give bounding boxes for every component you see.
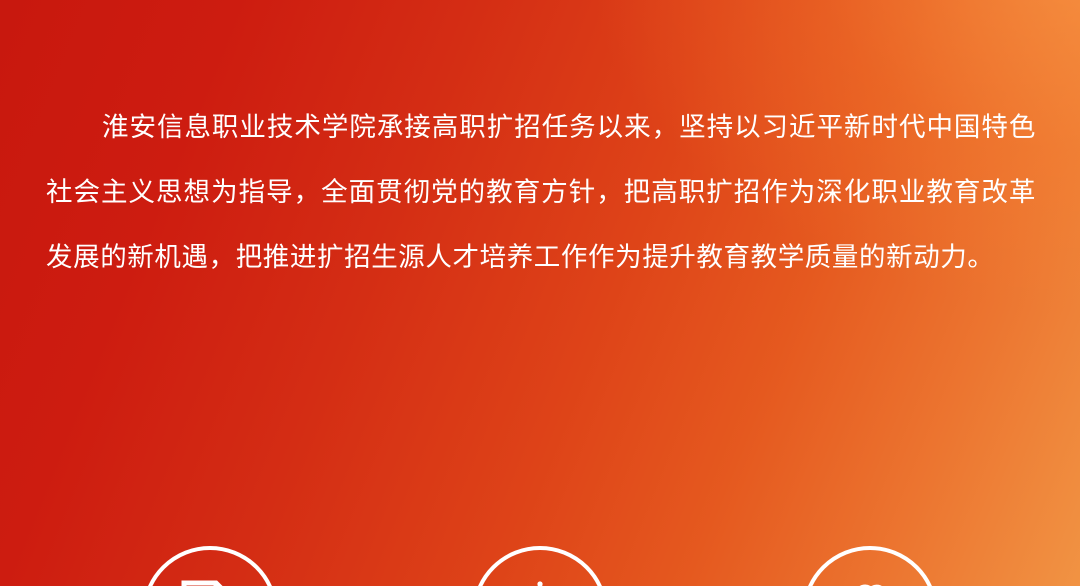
slide-canvas: 淮安信息职业技术学院承接高职扩招任务以来，坚持以习近平新时代中国特色社会主义思想… xyxy=(0,0,1080,586)
feature-item-3[interactable]: 打好“组合拳” xyxy=(705,546,1035,586)
fist-icon xyxy=(833,581,907,586)
feature-item-2[interactable]: 把牢“方向盘” xyxy=(375,546,705,586)
icon-feature-row: 念好“三个字” xyxy=(0,546,1080,586)
slide-body-paragraph: 淮安信息职业技术学院承接高职扩招任务以来，坚持以习近平新时代中国特色社会主义思想… xyxy=(46,95,1036,290)
icon-circle-1 xyxy=(142,546,278,586)
document-icon xyxy=(180,580,240,586)
icon-circle-3 xyxy=(802,546,938,586)
ships-helm-icon xyxy=(504,578,576,586)
feature-item-1[interactable]: 念好“三个字” xyxy=(45,546,375,586)
icon-circle-2 xyxy=(472,546,608,586)
